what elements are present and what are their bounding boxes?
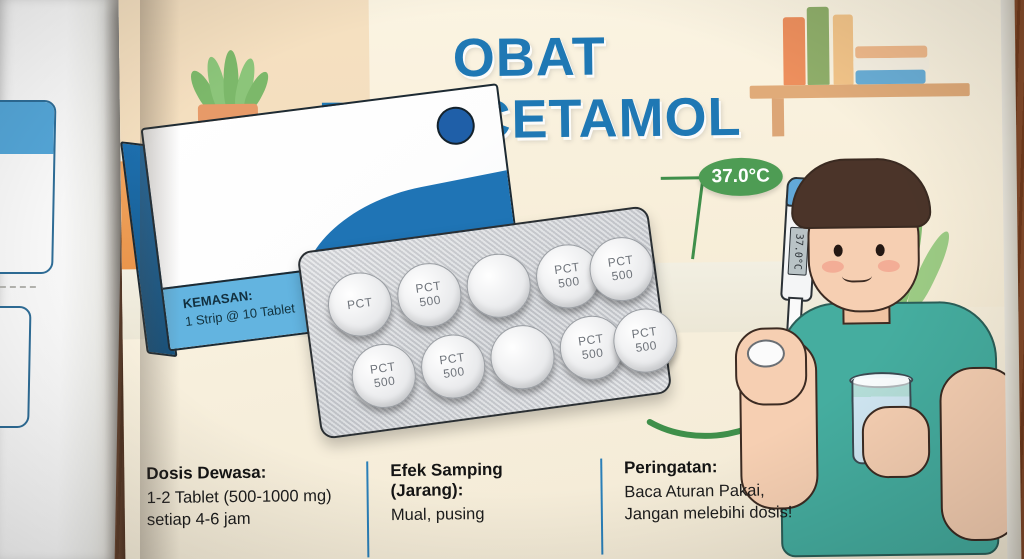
book-green [807, 7, 830, 85]
tablet: PCT500 [348, 340, 420, 412]
efek-samping-line-1: Mual, pusing [391, 503, 579, 527]
info-bar: Dosis Dewasa: 1-2 Tablet (500-1000 mg) s… [124, 455, 905, 559]
tablet-imprint-line2: 500 [442, 365, 465, 382]
box-circle-logo [434, 105, 476, 147]
tablet [487, 321, 559, 393]
person-mouth [842, 266, 872, 282]
tablet-imprint-line2: 500 [581, 346, 604, 363]
peringatan-line-2: Jangan melebihi dosis! [624, 501, 883, 526]
tablet-imprint-line2: 500 [419, 294, 442, 311]
left-page-card-top: mg) [0, 100, 56, 274]
info-column-peringatan: Peringatan: Baca Aturan Pakai, Jangan me… [600, 455, 905, 555]
tablet-imprint-line2: 500 [557, 275, 580, 292]
right-book-page: OBAT PARACETAMOL KEMASAN: 1 Strip @ 10 T… [119, 0, 1012, 559]
person-hair [791, 158, 932, 230]
efek-samping-heading: Efek Samping (Jarang): [390, 459, 578, 501]
tablet: PCT500 [586, 233, 658, 305]
peringatan-line-1: Baca Aturan Pakai, [624, 479, 883, 504]
person-right-arm [939, 366, 1011, 541]
tablet-imprint-line1: PCT [346, 296, 373, 313]
book-photo-scene: mg) ak [0, 0, 1024, 559]
tablet: PCT500 [393, 259, 465, 331]
tablet-imprint-line2: 500 [635, 339, 658, 356]
book-stack-top [855, 46, 927, 59]
book-tan [833, 14, 854, 84]
card-blue-band [0, 102, 54, 154]
tablet-imprint-line2: 500 [611, 268, 634, 285]
tablet-imprint-line2: 500 [373, 375, 396, 392]
tablet [463, 250, 535, 322]
book-stack-middle [853, 58, 929, 71]
tablet: PCT500 [417, 331, 489, 403]
info-column-efek-samping: Efek Samping (Jarang): Mual, pusing [366, 459, 601, 558]
peringatan-heading: Peringatan: [624, 455, 883, 478]
left-page-divider [0, 286, 36, 288]
book-stack-bottom [855, 70, 925, 85]
callout-line-horizontal [661, 176, 703, 179]
left-page-card-bottom: ak [0, 306, 32, 428]
page-fold-shadow [140, 0, 180, 559]
tablet: PCT [324, 269, 396, 341]
